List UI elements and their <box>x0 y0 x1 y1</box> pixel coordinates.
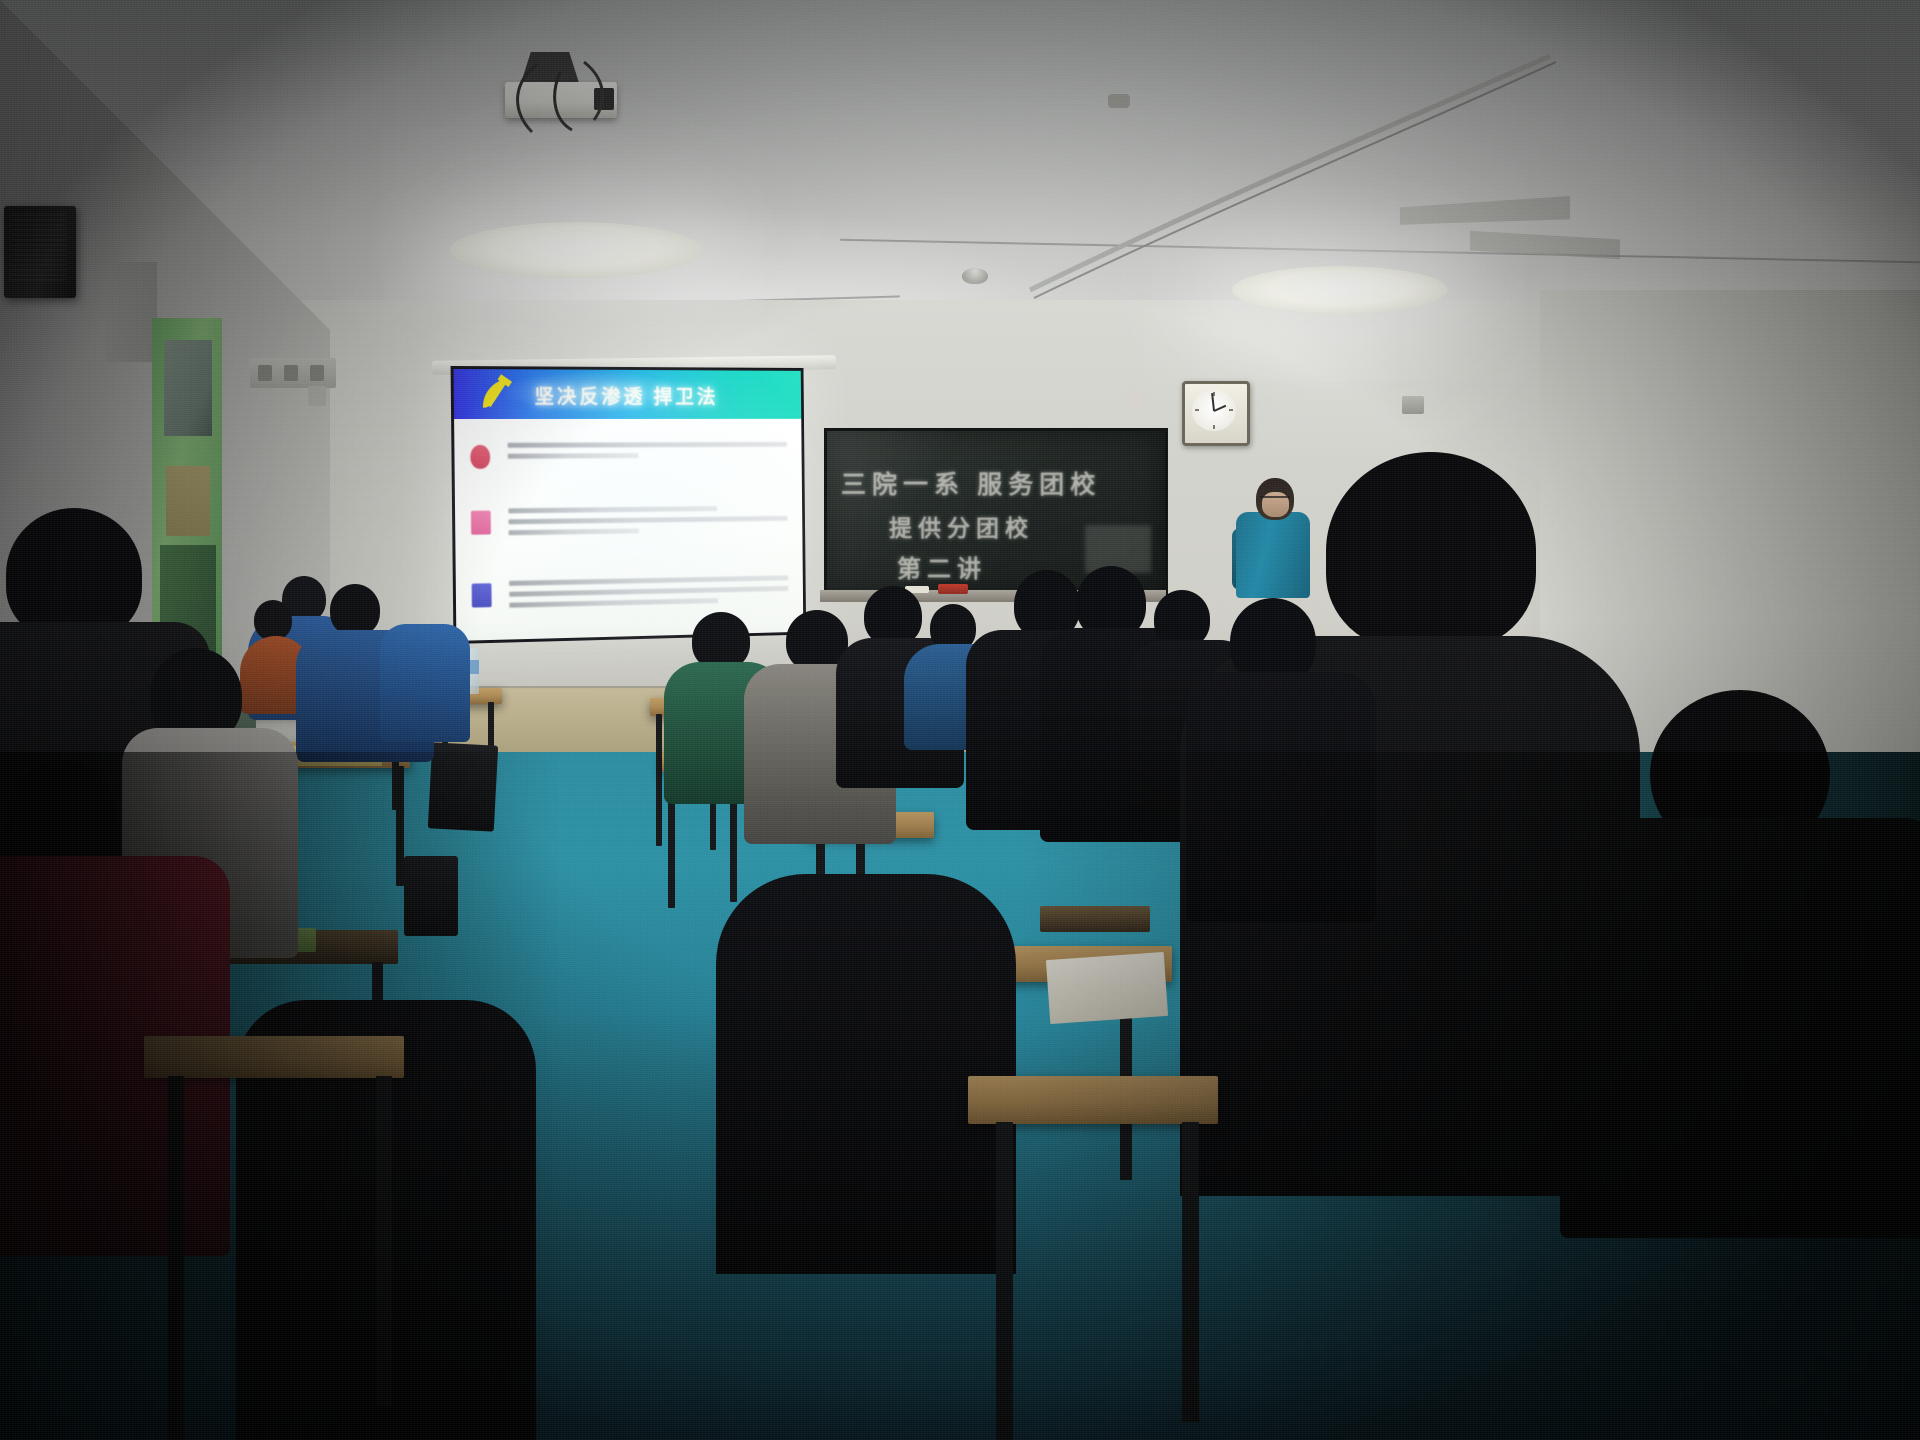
student-torso <box>716 874 1016 1274</box>
outlet-slot <box>310 365 324 381</box>
clock-tick <box>1229 409 1233 411</box>
shadow-left <box>0 752 560 1440</box>
blackboard-line-2: 提供分团校 <box>889 509 1034 543</box>
slide-bullet <box>471 505 788 541</box>
wall-conduit-box <box>308 386 326 406</box>
wall-fixture <box>1402 396 1424 414</box>
slide-title: 坚决反渗透 捍卫法 <box>534 380 718 409</box>
outlet-slot <box>258 365 272 381</box>
wall-panel <box>105 262 157 362</box>
text-line <box>508 442 787 448</box>
hammer-and-sickle-emblem <box>475 374 519 414</box>
blackboard-eraser[interactable] <box>938 584 968 594</box>
slide-bullet <box>472 575 789 614</box>
blackboard-line-3: 第二讲 <box>897 549 987 584</box>
blue-square-bullet-icon <box>472 583 492 607</box>
student-head <box>864 586 922 646</box>
desk-leg <box>996 1122 1013 1440</box>
glasses-icon <box>1260 496 1290 505</box>
door-notice-board <box>166 466 210 536</box>
door-window <box>164 340 212 436</box>
slide-body <box>454 419 803 641</box>
bullet-text-block <box>509 575 788 613</box>
text-line <box>509 528 640 535</box>
text-line <box>509 575 788 585</box>
student-head <box>254 600 292 640</box>
classroom-photo: 坚决反渗透 捍卫法 <box>0 0 1920 1440</box>
bullet-text-block <box>508 505 787 541</box>
blackboard-line-1: 三院一系 服务团校 <box>841 465 1101 501</box>
shadow-right <box>1020 752 1920 1440</box>
ceiling-camera-dome-icon <box>962 268 988 284</box>
text-line <box>509 598 717 608</box>
ceiling-light-left <box>450 222 702 278</box>
projector-lens-icon <box>594 88 614 110</box>
student-head <box>1326 452 1536 650</box>
slide-bullet <box>470 442 787 469</box>
clock-tick <box>1195 409 1199 411</box>
wall-scuff <box>1126 392 1142 408</box>
red-flame-bullet-icon <box>470 445 490 469</box>
text-line <box>509 586 788 597</box>
slide-header-bar: 坚决反渗透 捍卫法 <box>454 369 802 419</box>
clock-tick <box>1213 425 1215 429</box>
outlet-slot <box>284 365 298 381</box>
bullet-text-block <box>508 442 787 469</box>
student-head <box>6 508 142 640</box>
lecturer-body <box>1236 512 1310 598</box>
student-head <box>330 584 380 636</box>
text-line <box>508 453 639 459</box>
ceiling-sensor <box>1108 94 1130 108</box>
text-line <box>508 506 716 513</box>
wall-outlet-panel[interactable] <box>250 358 336 388</box>
student-torso <box>380 624 470 742</box>
text-line <box>508 516 787 524</box>
pink-square-bullet-icon <box>471 511 491 535</box>
wall-clock <box>1182 381 1250 446</box>
projection-screen: 坚决反渗透 捍卫法 <box>451 366 807 644</box>
desk-leg <box>656 714 662 846</box>
speaker-grill <box>10 214 66 284</box>
